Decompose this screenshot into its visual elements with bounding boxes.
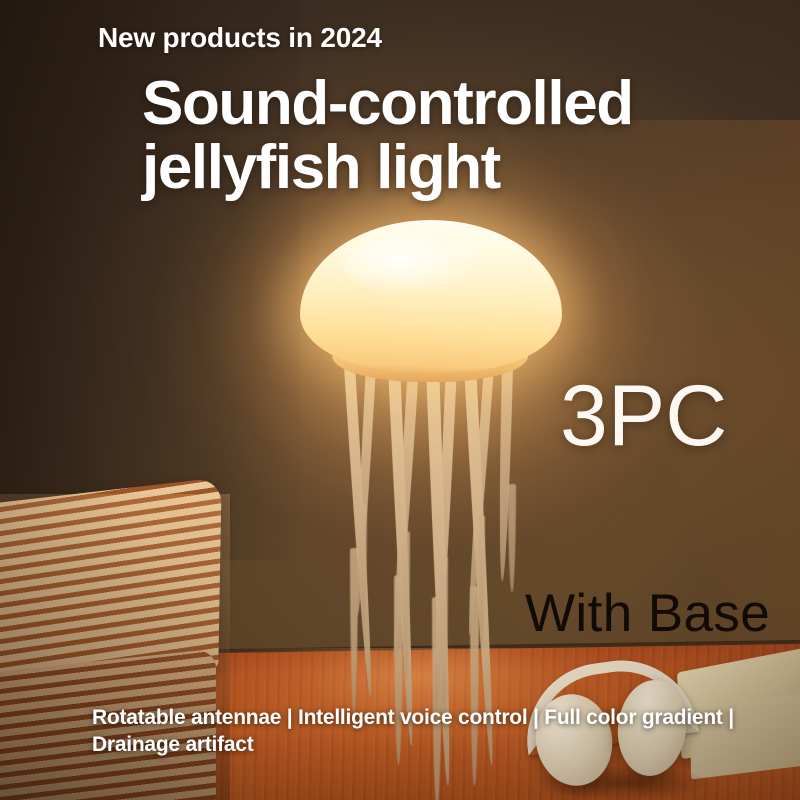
advertisement-scene: New products in 2024 Sound-controlled je… bbox=[0, 0, 800, 800]
headline-line-2: jellyfish light bbox=[142, 136, 633, 200]
headline-line-1: Sound-controlled bbox=[142, 72, 633, 136]
feature-list-text: Rotatable antennae | Intelligent voice c… bbox=[92, 705, 752, 759]
eyebrow-text: New products in 2024 bbox=[98, 22, 382, 54]
base-note-text: With Base bbox=[525, 583, 770, 644]
page-title: Sound-controlled jellyfish light bbox=[142, 72, 633, 200]
quantity-badge: 3PC bbox=[560, 367, 727, 466]
